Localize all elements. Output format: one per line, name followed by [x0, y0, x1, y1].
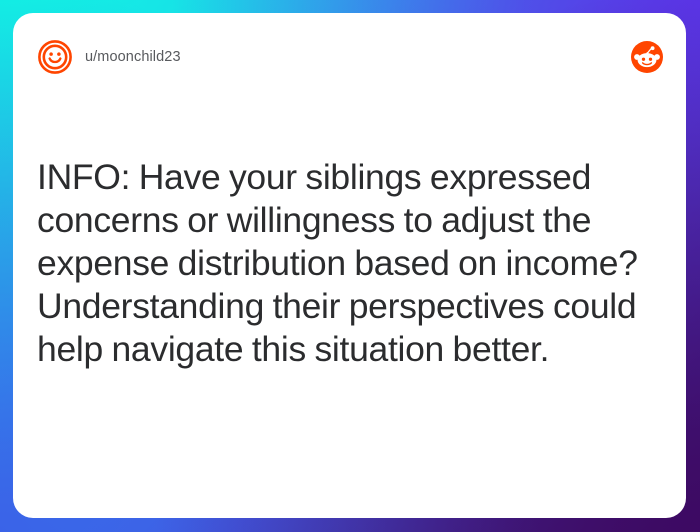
smiley-face-avatar-icon[interactable] — [37, 39, 73, 75]
author-username: u/moonchild23 — [85, 49, 181, 65]
author-block[interactable]: u/moonchild23 — [37, 39, 181, 75]
post-body-text: INFO: Have your siblings expressed conce… — [37, 156, 662, 371]
reddit-snoo-icon[interactable] — [630, 40, 664, 74]
reddit-post-card: u/moonchild23 INFO: Have your siblings e… — [13, 13, 686, 518]
post-header: u/moonchild23 — [13, 13, 686, 101]
gradient-backdrop: u/moonchild23 INFO: Have your siblings e… — [0, 0, 700, 532]
